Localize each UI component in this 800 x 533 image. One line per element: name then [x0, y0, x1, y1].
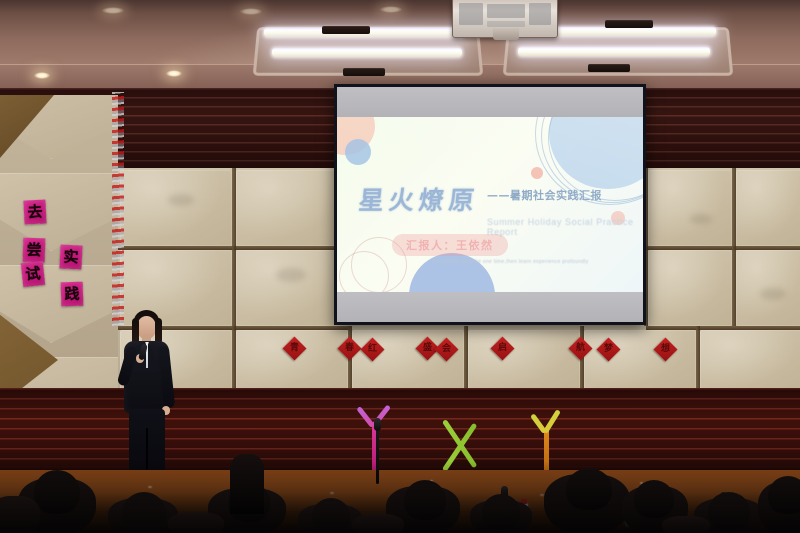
audience-hair — [662, 516, 710, 533]
diamond-char: 春 — [341, 340, 358, 357]
ceiling — [0, 0, 800, 95]
slide-english-subtitle: Summer Holiday Social Practice Report — [487, 217, 643, 237]
diamond-decoration: 青 — [282, 336, 306, 360]
projector-mount — [493, 28, 519, 40]
slide-subtitle: ——暑期社会实践汇报 — [487, 187, 602, 203]
standing-person-silhouette — [230, 454, 264, 514]
downlight-2 — [166, 70, 182, 77]
auditorium-photo: 去 尝 试 实 践 星火燎原 ——暑期社会实践汇 — [0, 0, 800, 533]
slide-title: 星火燎原 — [357, 181, 481, 217]
blob-salmon-right — [531, 167, 543, 179]
audience-head — [312, 498, 350, 533]
audience-head — [122, 492, 166, 533]
audience-hair — [352, 514, 404, 533]
diamond-char: 想 — [657, 341, 674, 358]
audience-head — [634, 480, 674, 518]
diamond-decoration: 会 — [434, 337, 458, 361]
ceiling-vent-1 — [322, 26, 370, 34]
sticky-note-4: 实 — [59, 244, 82, 269]
ceiling-vent-3 — [605, 20, 653, 28]
blob-blue-topleft — [345, 139, 371, 165]
sticky-note-1: 去 — [23, 199, 46, 224]
microphone-head — [374, 418, 381, 431]
audience-hair — [0, 496, 40, 533]
sticky-note-2: 尝 — [23, 238, 46, 263]
sticky-note-3: 试 — [21, 261, 45, 287]
diamond-char: 红 — [364, 341, 381, 358]
screen-letterbox-bottom — [337, 292, 643, 322]
audience-hair — [168, 512, 224, 533]
audience-head — [566, 468, 612, 510]
diamond-char: 启 — [494, 340, 511, 357]
audience-head — [34, 470, 80, 514]
tinsel-garland — [112, 92, 124, 327]
diamond-decoration: 梦 — [596, 337, 620, 361]
diamond-decoration: 春 — [337, 336, 361, 360]
downlight-1 — [34, 72, 50, 79]
diamond-char: 会 — [438, 341, 455, 358]
diamond-char: 青 — [286, 340, 303, 357]
audience-head — [768, 476, 800, 514]
diamond-decoration: 红 — [360, 337, 384, 361]
fluorescent-light-4 — [518, 47, 710, 56]
fluorescent-light-2 — [272, 48, 462, 57]
ceiling-vent-4 — [588, 64, 630, 72]
audience-head — [482, 494, 520, 530]
slide-presenter-badge: 汇报人：王依然 — [392, 234, 508, 256]
projection-screen: 星火燎原 ——暑期社会实践汇报 Summer Holiday Social Pr… — [334, 84, 646, 325]
diamond-char: 梦 — [600, 341, 617, 358]
diamond-decoration: 启 — [490, 336, 514, 360]
diamond-char: 航 — [572, 340, 589, 357]
sticky-note-5: 践 — [61, 282, 84, 307]
screen-letterbox-top — [337, 87, 643, 117]
downlight-11 — [240, 8, 262, 15]
presentation-slide: 星火燎原 ——暑期社会实践汇报 Summer Holiday Social Pr… — [337, 117, 643, 292]
audience-head — [708, 492, 750, 530]
audience-head — [404, 480, 446, 520]
diamond-decoration: 想 — [653, 337, 677, 361]
downlight-10 — [102, 7, 124, 14]
downlight-12 — [380, 6, 402, 13]
diamond-char: 盛 — [419, 340, 436, 357]
diamond-decoration: 航 — [568, 336, 592, 360]
ceiling-vent-2 — [343, 68, 385, 76]
slide-quote: Everything must be one time,then learn e… — [433, 259, 589, 265]
